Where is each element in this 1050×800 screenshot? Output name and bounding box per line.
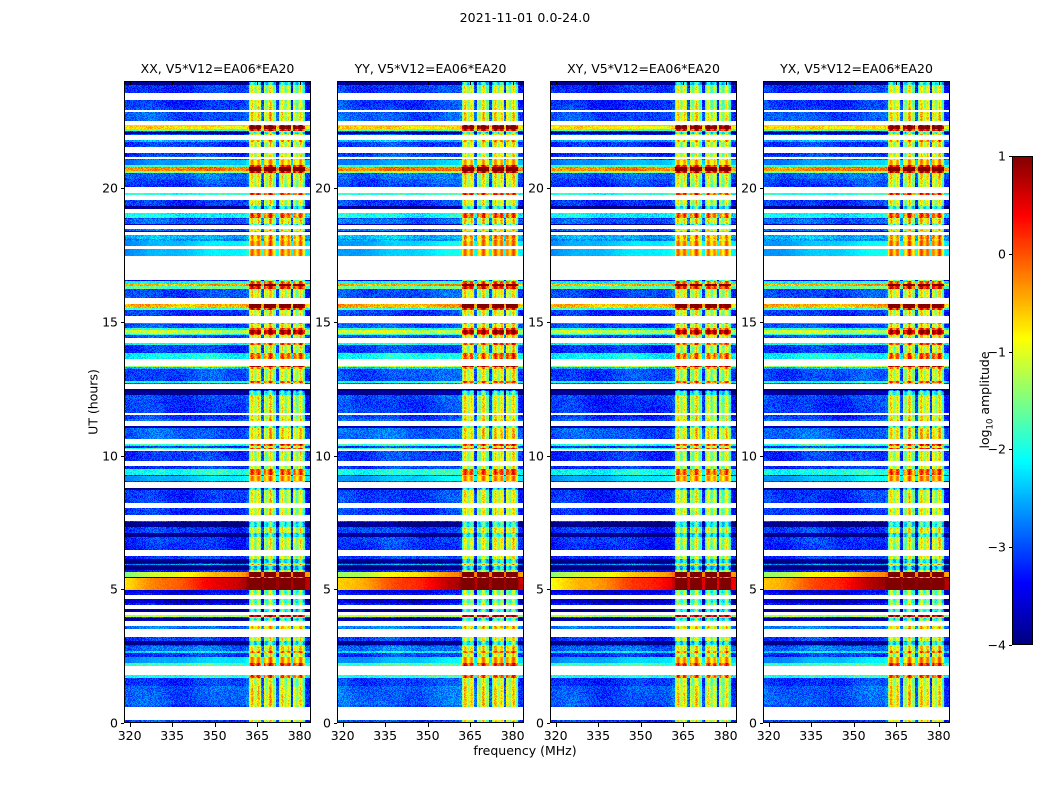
spectrum-panel-yx: YX, V5*V12=EA06*EA2032033535036538005101…	[763, 81, 950, 723]
x-tick-mark	[385, 723, 386, 727]
y-tick-label: 0	[323, 716, 331, 731]
x-tick-mark	[215, 723, 216, 727]
y-tick-label: 10	[315, 448, 331, 463]
x-tick-mark	[513, 723, 514, 727]
y-tick-mark	[121, 322, 125, 323]
x-tick-label: 350	[203, 728, 227, 743]
x-tick-mark	[811, 723, 812, 727]
x-tick-mark	[769, 81, 770, 85]
x-tick-mark	[130, 723, 131, 727]
x-tick-label: 350	[842, 728, 866, 743]
x-tick-mark	[172, 723, 173, 727]
y-tick-mark	[334, 322, 338, 323]
x-tick-mark	[896, 723, 897, 727]
x-tick-mark	[598, 81, 599, 85]
x-tick-mark	[769, 723, 770, 727]
x-tick-label: 335	[160, 728, 184, 743]
y-tick-label: 5	[749, 582, 757, 597]
y-tick-mark	[334, 456, 338, 457]
waterfall-image-yy	[337, 81, 524, 723]
y-tick-label: 15	[741, 314, 757, 329]
y-tick-label: 0	[749, 716, 757, 731]
waterfall-image-xy	[550, 81, 737, 723]
x-tick-mark	[683, 723, 684, 727]
y-tick-label: 20	[741, 181, 757, 196]
figure-suptitle: 2021-11-01 0.0-24.0	[0, 10, 1050, 25]
colorbar-tick-label: 1	[998, 149, 1006, 164]
y-tick-mark	[760, 188, 764, 189]
y-tick-mark	[760, 723, 764, 724]
x-tick-mark	[641, 723, 642, 727]
y-tick-label: 20	[102, 181, 118, 196]
colorbar-tick-label: 0	[998, 246, 1006, 261]
x-tick-mark	[726, 81, 727, 85]
x-tick-label: 365	[884, 728, 908, 743]
y-tick-label: 10	[528, 448, 544, 463]
y-tick-mark	[121, 188, 125, 189]
x-tick-label: 380	[927, 728, 951, 743]
y-tick-label: 5	[536, 582, 544, 597]
y-tick-label: 5	[110, 582, 118, 597]
x-tick-label: 320	[757, 728, 781, 743]
y-tick-mark	[547, 589, 551, 590]
x-tick-mark	[470, 81, 471, 85]
x-tick-mark	[257, 723, 258, 727]
colorbar-tick-mark	[1009, 254, 1013, 255]
x-tick-mark	[343, 723, 344, 727]
x-tick-mark	[130, 81, 131, 85]
colorbar-tick-label: −3	[988, 540, 1006, 555]
waterfall-image-xx	[124, 81, 311, 723]
y-tick-mark	[334, 723, 338, 724]
spectrum-panel-yy: YY, V5*V12=EA06*EA2032033535036538005101…	[337, 81, 524, 723]
colorbar-tick-mark	[1009, 352, 1013, 353]
panel-title-yx: YX, V5*V12=EA06*EA20	[780, 61, 933, 76]
x-tick-label: 350	[629, 728, 653, 743]
panel-title-yy: YY, V5*V12=EA06*EA20	[355, 61, 507, 76]
colorbar-tick-mark	[1009, 547, 1013, 548]
x-tick-mark	[854, 81, 855, 85]
x-tick-mark	[257, 81, 258, 85]
y-tick-mark	[547, 456, 551, 457]
panel-title-xy: XY, V5*V12=EA06*EA20	[567, 61, 720, 76]
y-tick-mark	[334, 589, 338, 590]
y-tick-label: 20	[315, 181, 331, 196]
y-tick-mark	[547, 322, 551, 323]
x-tick-label: 365	[671, 728, 695, 743]
y-tick-label: 10	[102, 448, 118, 463]
y-tick-label: 10	[741, 448, 757, 463]
x-tick-label: 380	[714, 728, 738, 743]
colorbar-tick-mark	[1009, 645, 1013, 646]
colorbar-label: log10 amplitude	[977, 351, 996, 448]
y-tick-mark	[121, 723, 125, 724]
colorbar-tick-mark	[1009, 156, 1013, 157]
x-axis-label: frequency (MHz)	[0, 743, 1050, 758]
y-tick-mark	[334, 188, 338, 189]
colorbar-gradient	[1012, 156, 1033, 645]
figure-canvas: 2021-11-01 0.0-24.0 XX, V5*V12=EA06*EA20…	[0, 0, 1050, 800]
x-tick-label: 380	[288, 728, 312, 743]
x-tick-mark	[385, 81, 386, 85]
y-tick-mark	[547, 188, 551, 189]
x-tick-mark	[811, 81, 812, 85]
y-tick-mark	[547, 723, 551, 724]
x-tick-mark	[513, 81, 514, 85]
spectrum-panel-xy: XY, V5*V12=EA06*EA2032033535036538005101…	[550, 81, 737, 723]
x-tick-mark	[598, 723, 599, 727]
x-tick-mark	[854, 723, 855, 727]
y-tick-mark	[760, 456, 764, 457]
x-tick-label: 350	[416, 728, 440, 743]
x-tick-mark	[896, 81, 897, 85]
x-tick-label: 320	[544, 728, 568, 743]
y-tick-label: 15	[315, 314, 331, 329]
x-tick-mark	[939, 723, 940, 727]
waterfall-image-yx	[763, 81, 950, 723]
x-tick-label: 365	[458, 728, 482, 743]
x-tick-label: 320	[331, 728, 355, 743]
y-tick-label: 15	[102, 314, 118, 329]
x-tick-mark	[172, 81, 173, 85]
y-tick-label: 20	[528, 181, 544, 196]
x-tick-mark	[470, 723, 471, 727]
y-tick-mark	[121, 456, 125, 457]
x-tick-mark	[939, 81, 940, 85]
x-tick-mark	[428, 723, 429, 727]
x-tick-mark	[556, 81, 557, 85]
colorbar	[1012, 156, 1033, 645]
x-tick-mark	[683, 81, 684, 85]
y-tick-mark	[121, 589, 125, 590]
y-tick-label: 0	[110, 716, 118, 731]
x-tick-label: 335	[799, 728, 823, 743]
x-tick-mark	[215, 81, 216, 85]
x-tick-label: 380	[501, 728, 525, 743]
x-tick-mark	[641, 81, 642, 85]
x-tick-mark	[300, 723, 301, 727]
x-tick-mark	[428, 81, 429, 85]
x-tick-mark	[556, 723, 557, 727]
x-tick-mark	[343, 81, 344, 85]
colorbar-label-text: log10 amplitude	[977, 351, 992, 448]
y-axis-label: UT (hours)	[86, 369, 101, 435]
colorbar-tick-label: −4	[988, 638, 1006, 653]
x-tick-label: 365	[245, 728, 269, 743]
x-tick-label: 320	[118, 728, 142, 743]
y-tick-label: 5	[323, 582, 331, 597]
panel-title-xx: XX, V5*V12=EA06*EA20	[141, 61, 295, 76]
y-tick-label: 0	[536, 716, 544, 731]
y-tick-mark	[760, 589, 764, 590]
x-tick-mark	[726, 723, 727, 727]
x-tick-label: 335	[586, 728, 610, 743]
y-tick-mark	[760, 322, 764, 323]
y-tick-label: 15	[528, 314, 544, 329]
spectrum-panel-xx: XX, V5*V12=EA06*EA2032033535036538005101…	[124, 81, 311, 723]
x-tick-label: 335	[373, 728, 397, 743]
colorbar-tick-mark	[1009, 449, 1013, 450]
x-tick-mark	[300, 81, 301, 85]
